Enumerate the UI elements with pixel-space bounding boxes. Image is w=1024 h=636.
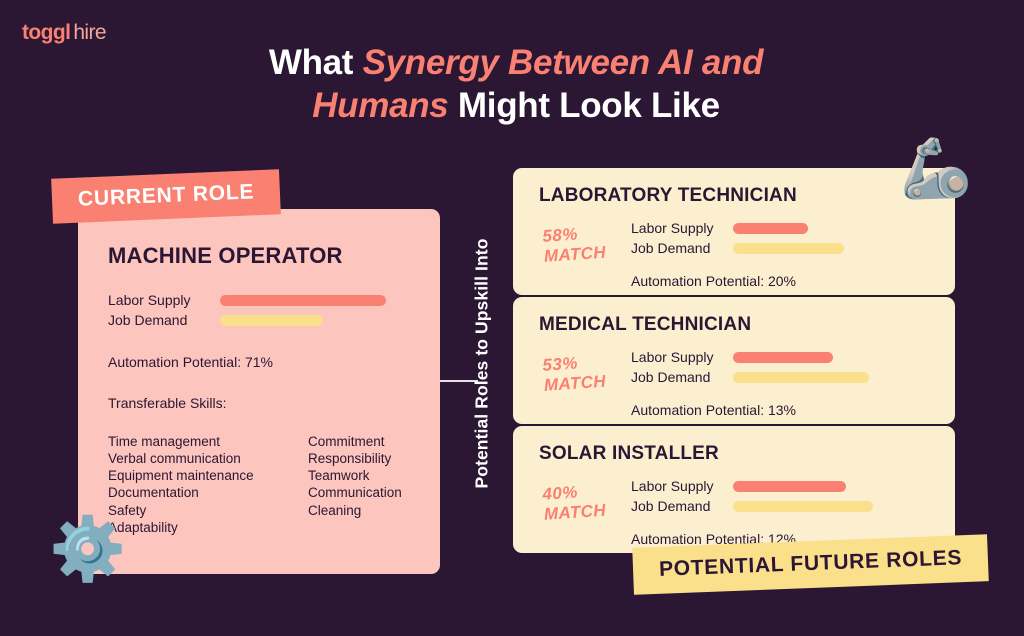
list-item: Equipment maintenance: [108, 467, 308, 484]
match-badge: 40% MATCH: [538, 475, 633, 524]
current-role-title: MACHINE OPERATOR: [108, 243, 410, 269]
list-item: Commitment: [308, 433, 402, 450]
future-role-title: LABORATORY TECHNICIAN: [539, 185, 933, 207]
metric-label-labor-supply: Labor Supply: [631, 478, 733, 494]
metric-label-job-demand: Job Demand: [631, 498, 733, 514]
future-card-body: 40% MATCH Labor Supply Job Demand Automa…: [539, 478, 933, 547]
metric-label-job-demand: Job Demand: [108, 312, 220, 328]
metric-row: Job Demand: [108, 312, 410, 328]
title-highlight-1: Synergy Between AI and: [363, 43, 764, 82]
logo-mark-text: toggl: [22, 21, 70, 44]
infographic-canvas: togglhire What Synergy Between AI and Hu…: [0, 0, 1024, 636]
automation-potential-text: Automation Potential: 71%: [108, 354, 410, 370]
metric-row: Job Demand: [631, 240, 844, 256]
metric-row: Job Demand: [631, 369, 869, 385]
match-badge: 58% MATCH: [538, 217, 633, 266]
current-role-card: MACHINE OPERATOR Labor Supply Job Demand…: [78, 209, 440, 574]
future-role-title: MEDICAL TECHNICIAN: [539, 314, 933, 336]
metric-row: Labor Supply: [631, 220, 844, 236]
list-item: Safety: [108, 502, 308, 519]
transferable-skills-columns: Time management Verbal communication Equ…: [108, 433, 410, 536]
future-card-body: 58% MATCH Labor Supply Job Demand Automa…: [539, 220, 933, 289]
list-item: Documentation: [108, 484, 308, 501]
future-role-card-medical-technician: MEDICAL TECHNICIAN 53% MATCH Labor Suppl…: [513, 297, 955, 424]
metric-row: Labor Supply: [108, 292, 410, 308]
title-plain-1: What: [269, 43, 363, 82]
bar-labor-supply: [733, 223, 808, 234]
future-role-title: SOLAR INSTALLER: [539, 443, 933, 465]
match-badge: 53% MATCH: [538, 346, 633, 395]
bar-labor-supply: [733, 352, 833, 363]
logo-sub-text: hire: [73, 21, 106, 44]
list-item: Verbal communication: [108, 450, 308, 467]
metric-label-job-demand: Job Demand: [631, 240, 733, 256]
bar-job-demand: [220, 315, 323, 326]
bar-labor-supply: [220, 295, 386, 306]
skills-column-left: Time management Verbal communication Equ…: [108, 433, 308, 536]
metric-label-job-demand: Job Demand: [631, 369, 733, 385]
metric-row: Labor Supply: [631, 478, 873, 494]
list-item: Communication: [308, 484, 402, 501]
metric-row: Labor Supply: [631, 349, 869, 365]
metric-label-labor-supply: Labor Supply: [631, 220, 733, 236]
bar-labor-supply: [733, 481, 846, 492]
future-role-card-laboratory-technician: LABORATORY TECHNICIAN 58% MATCH Labor Su…: [513, 168, 955, 295]
title-highlight-2: Humans: [312, 86, 448, 125]
robot-arm-icon: 🦾: [900, 140, 972, 198]
toggl-hire-logo: togglhire: [22, 21, 106, 45]
bar-job-demand: [733, 372, 869, 383]
page-title: What Synergy Between AI and Humans Might…: [216, 42, 816, 127]
future-metrics: Labor Supply Job Demand Automation Poten…: [631, 478, 873, 547]
bar-job-demand: [733, 243, 844, 254]
title-plain-2: Might Look Like: [448, 86, 719, 125]
skills-column-right: Commitment Responsibility Teamwork Commu…: [308, 433, 402, 536]
metric-label-labor-supply: Labor Supply: [108, 292, 220, 308]
automation-potential-text: Automation Potential: 13%: [631, 402, 869, 418]
future-metrics: Labor Supply Job Demand Automation Poten…: [631, 349, 869, 418]
transferable-skills-heading: Transferable Skills:: [108, 395, 410, 411]
list-item: Cleaning: [308, 502, 402, 519]
list-item: Teamwork: [308, 467, 402, 484]
list-item: Time management: [108, 433, 308, 450]
future-card-body: 53% MATCH Labor Supply Job Demand Automa…: [539, 349, 933, 418]
list-item: Adaptability: [108, 519, 308, 536]
upskill-vertical-label: Potential Roles to Upskill Into: [467, 168, 497, 558]
future-metrics: Labor Supply Job Demand Automation Poten…: [631, 220, 844, 289]
upskill-vertical-label-text: Potential Roles to Upskill Into: [472, 238, 493, 488]
current-role-badge: CURRENT ROLE: [51, 169, 281, 224]
list-item: Responsibility: [308, 450, 402, 467]
gear-icon: ⚙️: [49, 519, 126, 581]
bar-job-demand: [733, 501, 873, 512]
metric-label-labor-supply: Labor Supply: [631, 349, 733, 365]
future-role-card-solar-installer: SOLAR INSTALLER 40% MATCH Labor Supply J…: [513, 426, 955, 553]
automation-potential-text: Automation Potential: 20%: [631, 273, 844, 289]
metric-row: Job Demand: [631, 498, 873, 514]
